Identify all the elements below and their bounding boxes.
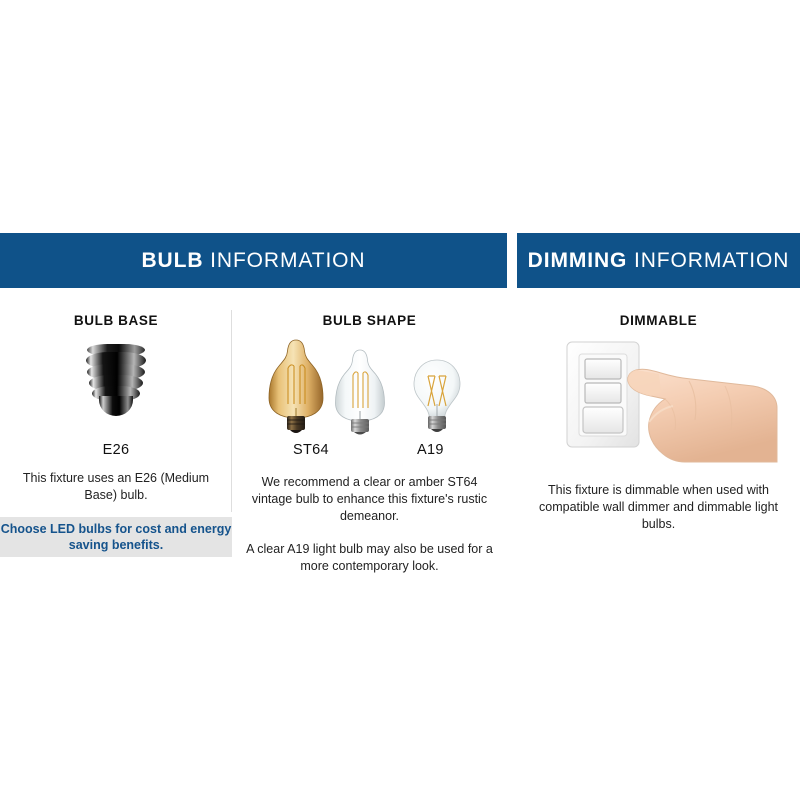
led-bulb-note: Choose LED bulbs for cost and energy sav… <box>0 517 232 557</box>
wall-dimmer-switch-with-hand-icon <box>517 334 800 464</box>
bulb-information-title: BULB INFORMATION <box>141 249 365 273</box>
bulb-base-title: BULB BASE <box>0 313 232 328</box>
bulb-shape-label-a19: A19 <box>417 442 444 458</box>
bulb-and-dimming-infographic: BULB INFORMATION BULB BASE E26 <box>0 233 800 573</box>
bulb-information-title-strong: BULB <box>141 249 203 272</box>
bulb-base-image-label: E26 <box>0 442 232 458</box>
amber-st64-bulb-icon <box>265 338 327 436</box>
bulb-shape-copy: We recommend a clear or amber ST64 vinta… <box>232 474 507 575</box>
e26-tip <box>99 396 133 416</box>
dimmable-copy: This fixture is dimmable when used with … <box>517 482 800 533</box>
bulb-shape-column: BULB SHAPE <box>232 288 507 573</box>
dimmable-copy-text: This fixture is dimmable when used with … <box>535 482 782 533</box>
bulb-shape-labels: ST64 A19 <box>232 442 507 464</box>
dimming-columns: DIMMABLE <box>517 288 800 573</box>
dimming-information-header: DIMMING INFORMATION <box>517 233 800 288</box>
dimming-information-title-rest: INFORMATION <box>627 249 789 272</box>
bulb-shape-copy-text-1: We recommend a clear or amber ST64 vinta… <box>246 474 493 525</box>
dimmable-title: DIMMABLE <box>517 313 800 328</box>
clear-st64-bulb-icon <box>332 348 388 436</box>
bulb-shape-copy-text-2: A clear A19 light bulb may also be used … <box>246 541 493 575</box>
bulb-columns: BULB BASE E26 This fixture uses an E26 (… <box>0 288 507 573</box>
led-bulb-note-text: Choose LED bulbs for cost and energy sav… <box>0 521 232 553</box>
bulb-base-art <box>0 336 232 436</box>
bulb-shape-title: BULB SHAPE <box>232 313 507 328</box>
bulb-shape-art <box>232 336 507 436</box>
e26-screw-base-icon <box>85 344 147 418</box>
dimmable-column: DIMMABLE <box>517 288 800 573</box>
bulb-information-panel: BULB INFORMATION BULB BASE E26 <box>0 233 507 573</box>
bulb-information-title-rest: INFORMATION <box>203 249 365 272</box>
bulb-base-copy-text: This fixture uses an E26 (Medium Base) b… <box>16 470 216 504</box>
bulb-base-column: BULB BASE E26 This fixture uses an E26 (… <box>0 288 232 573</box>
bulb-information-header: BULB INFORMATION <box>0 233 507 288</box>
bulb-shape-row <box>232 336 507 436</box>
dimming-information-panel: DIMMING INFORMATION DIMMABLE <box>517 233 800 573</box>
dimming-information-title: DIMMING INFORMATION <box>528 249 790 273</box>
bulb-base-copy: This fixture uses an E26 (Medium Base) b… <box>0 470 232 504</box>
bulb-shape-label-st64: ST64 <box>293 442 329 458</box>
dimming-information-title-strong: DIMMING <box>528 249 628 272</box>
clear-a19-bulb-icon <box>410 358 464 436</box>
